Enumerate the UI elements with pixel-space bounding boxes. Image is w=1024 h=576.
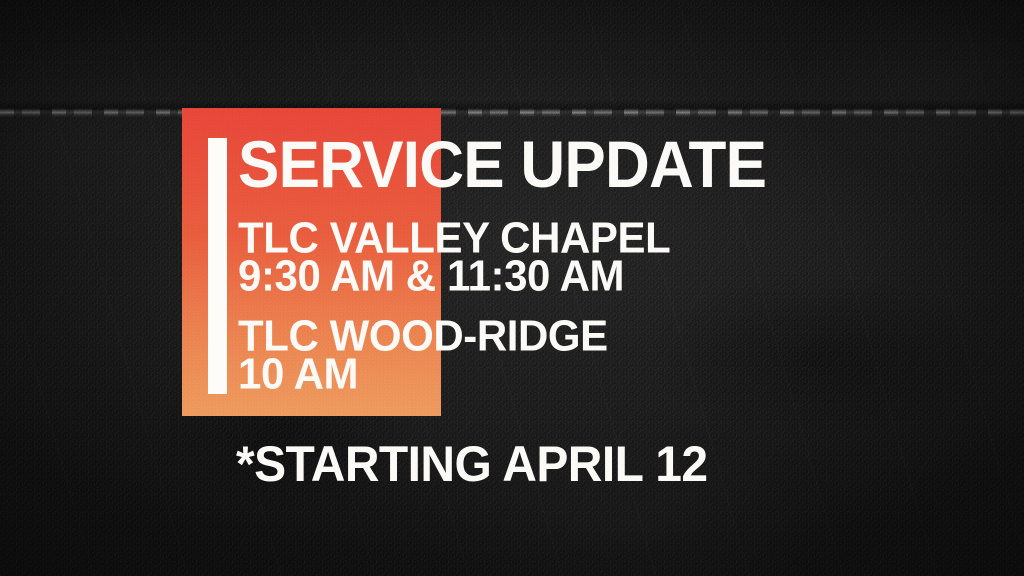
- service-update-poster: SERVICE UPDATE TLC VALLEY CHAPEL 9:30 AM…: [0, 0, 1024, 576]
- vertical-rule: [208, 138, 227, 394]
- background-blotches: [0, 0, 1024, 576]
